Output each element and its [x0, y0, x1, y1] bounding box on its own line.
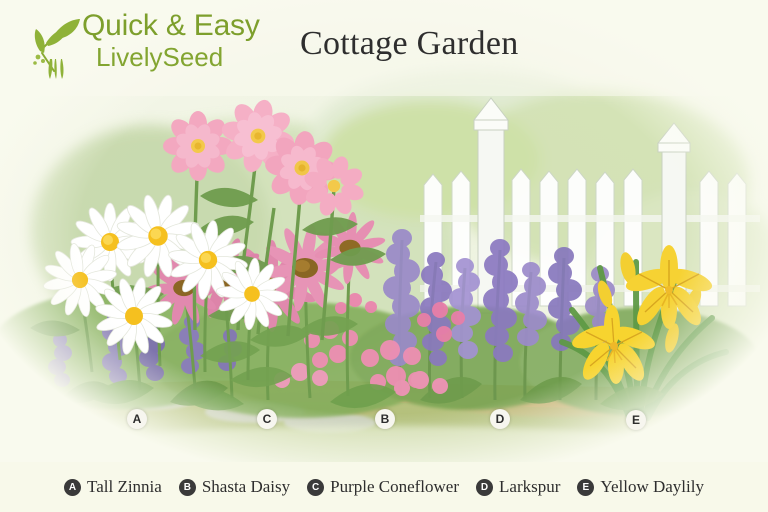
scene-marker-c[interactable]: C — [257, 409, 277, 429]
legend-badge-a: A — [64, 479, 81, 496]
legend-item-d[interactable]: DLarkspur — [476, 477, 560, 497]
brand-name: LivelySeed — [96, 42, 260, 72]
scene-marker-e[interactable]: E — [626, 410, 646, 430]
leaf-sprig-icon — [30, 13, 86, 79]
scene-marker-b[interactable]: B — [375, 409, 395, 429]
legend-item-e[interactable]: EYellow Daylily — [577, 477, 704, 497]
legend-label-a: Tall Zinnia — [87, 477, 162, 497]
legend-label-b: Shasta Daisy — [202, 477, 290, 497]
scene-marker-d[interactable]: D — [490, 409, 510, 429]
page-title: Cottage Garden — [300, 25, 519, 63]
legend-badge-c: C — [307, 479, 324, 496]
brand-text: Quick & Easy LivelySeed — [82, 9, 260, 72]
scene-marker-a[interactable]: A — [127, 409, 147, 429]
legend-item-a[interactable]: ATall Zinnia — [64, 477, 162, 497]
legend-item-b[interactable]: BShasta Daisy — [179, 477, 290, 497]
brand-logo[interactable]: Quick & Easy LivelySeed — [30, 7, 288, 81]
legend: ATall ZinniaBShasta DaisyCPurple Coneflo… — [0, 462, 768, 512]
brand-tagline: Quick & Easy — [82, 9, 260, 43]
legend-badge-e: E — [577, 479, 594, 496]
seed-packet-graphic: Quick & Easy LivelySeed Cottage Garden A… — [0, 0, 768, 512]
header: Quick & Easy LivelySeed Cottage Garden — [0, 0, 768, 88]
legend-label-e: Yellow Daylily — [600, 477, 704, 497]
legend-badge-d: D — [476, 479, 493, 496]
legend-badge-b: B — [179, 479, 196, 496]
legend-label-d: Larkspur — [499, 477, 560, 497]
legend-label-c: Purple Coneflower — [330, 477, 459, 497]
legend-item-c[interactable]: CPurple Coneflower — [307, 477, 459, 497]
